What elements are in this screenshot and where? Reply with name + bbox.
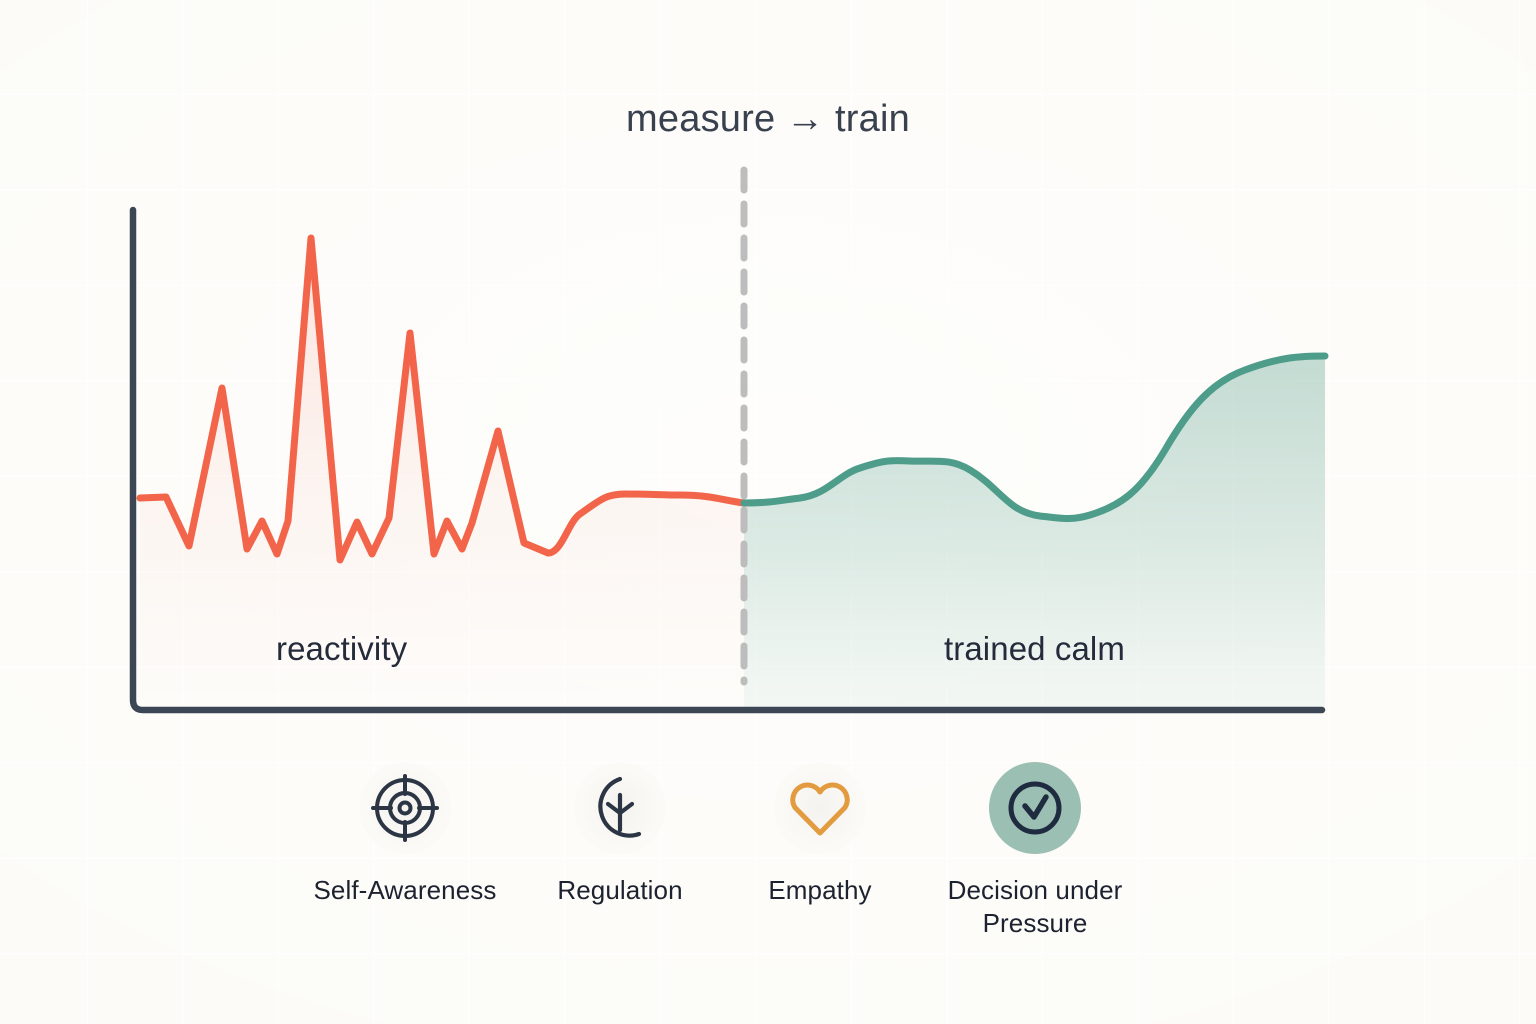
competency-item-self-awareness[interactable]: Self-Awareness xyxy=(290,762,520,907)
target-icon xyxy=(369,772,441,844)
competency-label-empathy: Empathy xyxy=(768,874,871,907)
icon-bubble-regulation xyxy=(574,762,666,854)
check-circle-icon xyxy=(1002,775,1068,841)
competency-icon-row: Self-Awareness Regulation Empathy xyxy=(290,762,1190,972)
competency-label-regulation: Regulation xyxy=(557,874,682,907)
phase-label-reactivity: reactivity xyxy=(276,630,407,668)
reactivity-area-fill xyxy=(140,238,744,710)
sapling-icon xyxy=(584,772,656,844)
competency-item-regulation[interactable]: Regulation xyxy=(520,762,720,907)
icon-bubble-decision-under-pressure xyxy=(989,762,1081,854)
phase-label-trained-calm: trained calm xyxy=(944,630,1125,668)
page-title: measure → train xyxy=(0,98,1536,141)
competency-item-empathy[interactable]: Empathy xyxy=(720,762,920,907)
icon-bubble-self-awareness xyxy=(359,762,451,854)
competency-label-decision-under-pressure: Decision under Pressure xyxy=(920,874,1150,941)
competency-item-decision-under-pressure[interactable]: Decision under Pressure xyxy=(920,762,1150,941)
icon-bubble-empathy xyxy=(774,762,866,854)
heart-icon xyxy=(784,772,856,844)
competency-label-self-awareness: Self-Awareness xyxy=(313,874,496,907)
